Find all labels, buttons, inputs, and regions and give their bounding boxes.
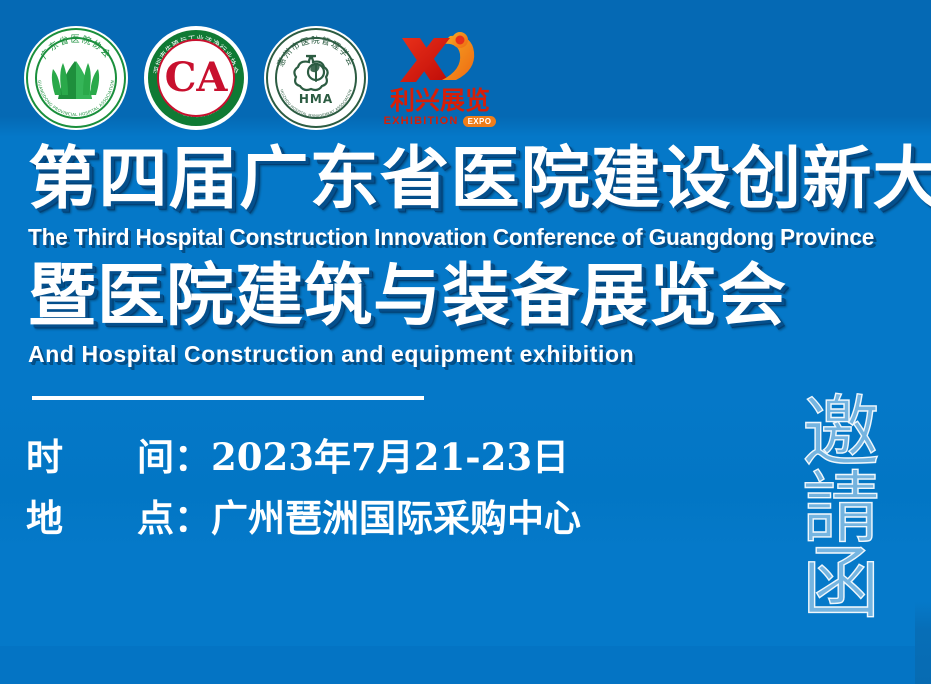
seal-circle: 深圳市生殖与工业洁净行业协会 深圳市生殖与工业洁净行业协会 CA [144, 26, 248, 130]
bottom-edge-band [0, 646, 915, 684]
lixing-expo-badge: EXPO [463, 116, 497, 127]
logo2-core: CA [166, 48, 226, 108]
invitation-char-3: 函 [802, 547, 880, 623]
invitation-vertical-text: 邀 請 函 [795, 396, 887, 623]
lixing-en-name: EXHIBITION [384, 116, 459, 127]
logo-lixing-exhibition: 利兴展览 EXHIBITION EXPO [384, 26, 496, 130]
event-time-label: 时 间： [26, 435, 211, 481]
invitation-char-1: 邀 [802, 396, 880, 472]
event-time-row: 时 间： 2023年7月21-23日 [26, 434, 581, 481]
event-place-value: 广州琶洲国际采购中心 [211, 495, 581, 541]
logo2-monogram: CA [165, 58, 228, 98]
conference-title-cn-line2: 暨医院建筑与装备展览会 [28, 263, 908, 331]
section-divider [32, 396, 424, 400]
conference-title-cn-line1: 第四届广东省医院建设创新大会 [28, 146, 926, 214]
logo1-core [46, 48, 106, 108]
conference-title-en-line2: And Hospital Construction and equipment … [28, 343, 908, 366]
event-details-block: 时 间： 2023年7月21-23日 地 点： 广州琶洲国际采购中心 [26, 434, 581, 557]
event-place-label: 地 点： [26, 496, 211, 542]
green-leaf-icon [48, 55, 104, 101]
lixing-cn-name: 利兴展览 [390, 89, 490, 114]
lixing-x-mark-icon [390, 30, 490, 88]
logo-ca-association: 深圳市生殖与工业洁净行业协会 深圳市生殖与工业洁净行业协会 CA [144, 26, 248, 130]
event-time-value: 2023年7月21-23日 [211, 434, 569, 480]
lixing-en-row: EXHIBITION EXPO [384, 116, 497, 127]
logo3-core: HMA [286, 48, 346, 108]
medical-emblem-icon [291, 52, 341, 92]
organizer-logo-row: 广东省医院协会 GUANGDONG PROVINCIAL HOSPITAL AS… [24, 26, 496, 130]
right-edge-band [915, 0, 931, 684]
event-place-row: 地 点： 广州琶洲国际采购中心 [26, 495, 581, 542]
logo-guangdong-hospital-association: 广东省医院协会 GUANGDONG PROVINCIAL HOSPITAL AS… [24, 26, 128, 130]
logo3-abbr: HMA [299, 93, 333, 105]
conference-title-en-line1: The Third Hospital Construction Innovati… [28, 226, 895, 249]
seal-circle: 广东省医院协会 GUANGDONG PROVINCIAL HOSPITAL AS… [24, 26, 128, 130]
invitation-char-2: 請 [802, 472, 880, 548]
seal-circle: 惠州市医院管理学会 HUIZHOU HOSPITAL MANAGEMENT AS… [264, 26, 368, 130]
logo-hma-hospital-management: 惠州市医院管理学会 HUIZHOU HOSPITAL MANAGEMENT AS… [264, 26, 368, 130]
headline-block: 第四届广东省医院建设创新大会 The Third Hospital Constr… [28, 146, 908, 366]
conference-invitation-poster: 广东省医院协会 GUANGDONG PROVINCIAL HOSPITAL AS… [0, 0, 931, 684]
